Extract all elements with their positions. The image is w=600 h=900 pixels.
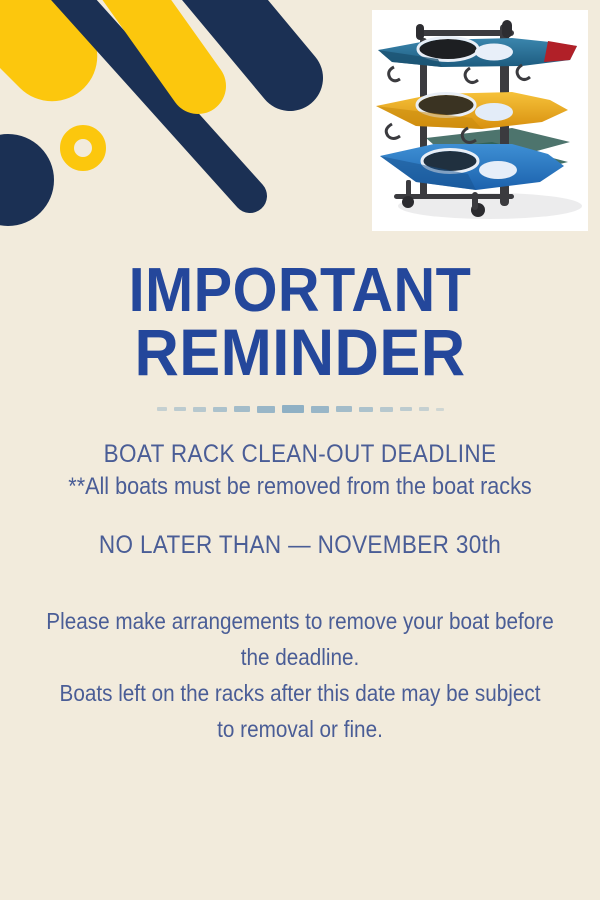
divider-dash-6: [257, 406, 275, 413]
divider-dash-9: [336, 406, 352, 412]
deadline-line: NO LATER THAN — NOVEMBER 30th: [30, 529, 570, 561]
yellow-ring: [67, 132, 99, 164]
yellow-diagonal-bar: [80, 0, 198, 86]
poster-canvas: IMPORTANT REMINDER BOAT RACK CLEAN-OUT D…: [0, 0, 600, 900]
spacer: [0, 561, 600, 603]
removal-note: **All boats must be removed from the boa…: [30, 470, 570, 503]
navy-thin-bar: [20, 0, 250, 196]
dashed-divider: [0, 405, 600, 413]
yellow-teardrop-shape: [0, 0, 97, 101]
kayak-storage-rack-photo: [372, 10, 588, 231]
announcement-body: BOAT RACK CLEAN-OUT DEADLINE **All boats…: [0, 438, 600, 747]
paragraph-line-1: Please make arrangements to remove your …: [30, 603, 570, 639]
page-title: IMPORTANT REMINDER: [0, 262, 600, 384]
spacer: [0, 503, 600, 529]
divider-dash-10: [359, 407, 373, 412]
divider-dash-8: [311, 406, 329, 413]
paragraph-line-4: to removal or fine.: [30, 711, 570, 747]
divider-dash-1: [157, 407, 167, 411]
subheading: BOAT RACK CLEAN-OUT DEADLINE: [30, 438, 570, 470]
headline-line-1: IMPORTANT: [21, 262, 579, 321]
navy-thick-bar: [150, 0, 290, 78]
divider-dash-7: [282, 405, 304, 413]
divider-dash-3: [193, 407, 206, 412]
divider-dash-11: [380, 407, 393, 412]
divider-dash-14: [436, 408, 444, 411]
divider-dash-13: [419, 407, 429, 411]
divider-dash-12: [400, 407, 412, 411]
paragraph-line-2: the deadline.: [30, 639, 570, 675]
headline-line-2: REMINDER: [21, 321, 579, 384]
navy-circle: [0, 134, 54, 226]
divider-dash-5: [234, 406, 250, 412]
paragraph-line-3: Boats left on the racks after this date …: [30, 675, 570, 711]
divider-dash-2: [174, 407, 186, 411]
abstract-corner-shapes: [0, 0, 340, 235]
divider-dash-4: [213, 407, 227, 412]
